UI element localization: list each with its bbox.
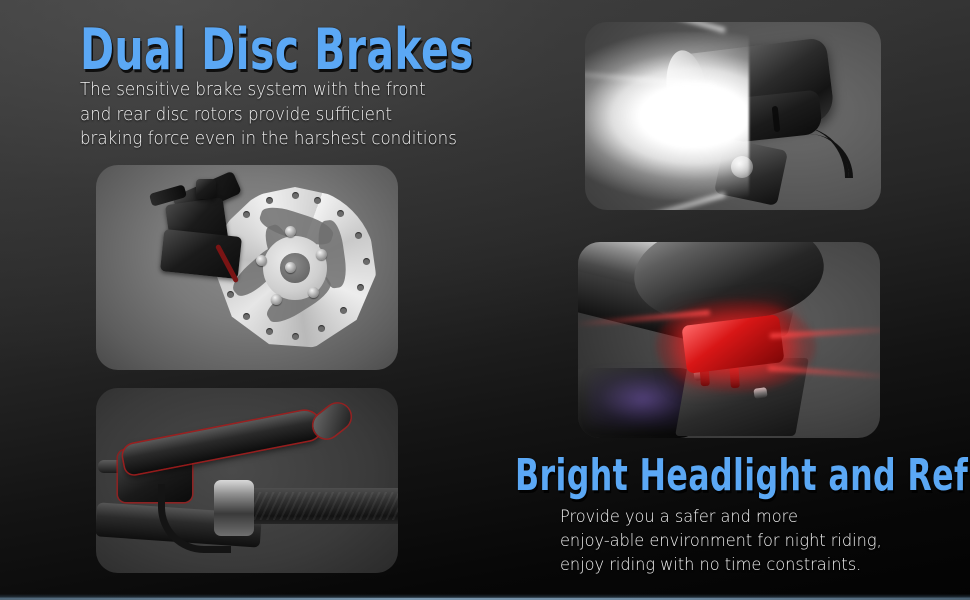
headlight-beam — [585, 32, 749, 200]
lights-body-text: Provide you a safer and more enjoy-able … — [560, 505, 882, 577]
brake-lever-arm — [121, 408, 323, 476]
feature-banner: Dual Disc Brakes The sensitive brake sys… — [0, 0, 970, 600]
brakes-body-text: The sensitive brake system with the fron… — [80, 78, 457, 152]
rotor-bolt — [285, 262, 296, 273]
rotor-hole — [266, 197, 273, 204]
brakes-headline: Dual Disc Brakes — [80, 17, 474, 83]
rotor-hole — [337, 210, 344, 217]
rotor-hole — [357, 284, 364, 291]
lights-headline: Bright Headlight and Reflector — [515, 450, 970, 501]
brake-lever-image-panel — [96, 388, 398, 573]
grip-texture — [246, 492, 398, 520]
rotor-bolt — [271, 294, 282, 305]
rotor-hole — [227, 291, 234, 298]
rotor-hole — [292, 333, 299, 340]
rotor-hole — [266, 328, 273, 335]
rotor-bolt — [316, 249, 327, 260]
rotor-hole — [292, 192, 299, 199]
rotor-hole — [318, 325, 325, 332]
disc-rotor-image-panel — [96, 165, 398, 370]
headlight-wire — [791, 134, 853, 178]
caliper-bleed-port — [196, 179, 216, 199]
taillight-image-panel — [578, 242, 880, 438]
headlight-image-panel — [585, 22, 881, 210]
brake-hose-curve — [158, 484, 231, 553]
